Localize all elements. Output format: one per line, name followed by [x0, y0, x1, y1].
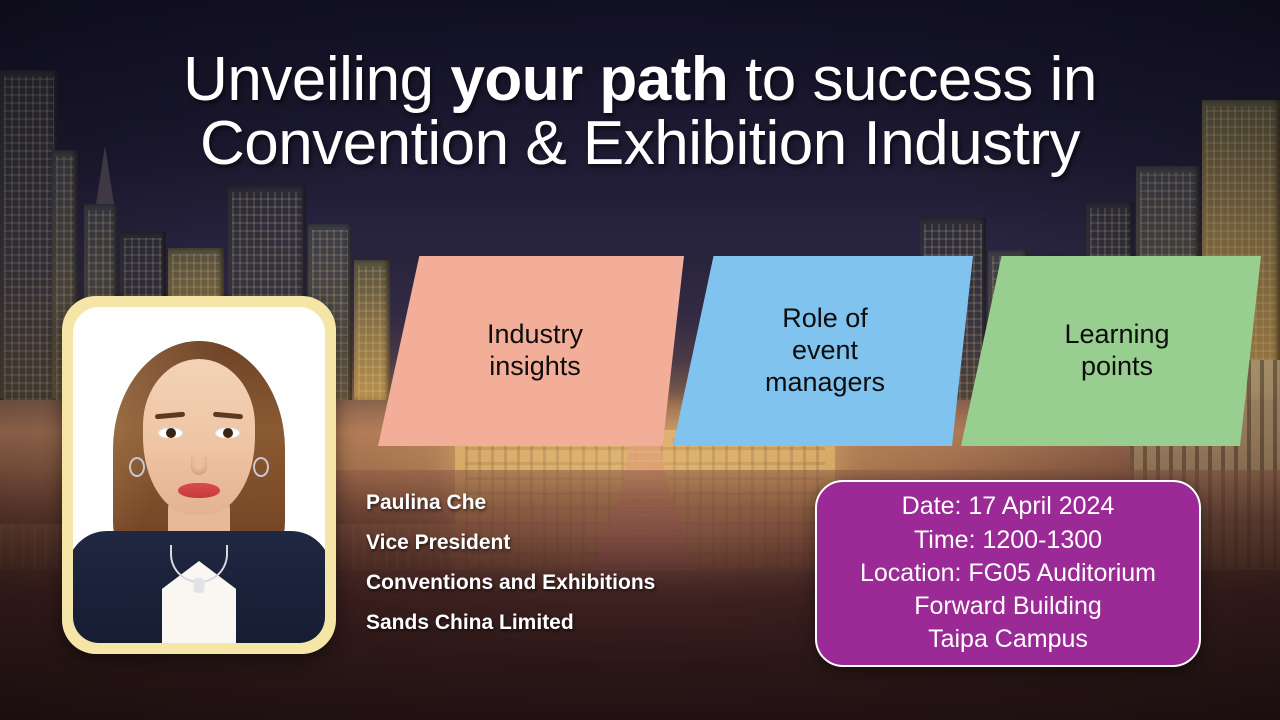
speaker-name: Paulina Che	[366, 492, 655, 513]
topic-chevron-label: Role ofeventmanagers	[755, 303, 895, 399]
event-campus: Taipa Campus	[928, 623, 1088, 656]
topic-chevron-row: Industryinsights Role ofeventmanagers Le…	[378, 256, 1208, 446]
speaker-department: Conventions and Exhibitions	[366, 572, 655, 593]
speaker-photo-frame	[62, 296, 336, 654]
event-building: Forward Building	[914, 590, 1102, 623]
title-line1-pre: Unveiling	[183, 45, 450, 114]
event-location: Location: FG05 Auditorium	[860, 557, 1156, 590]
page-title: Unveiling your path to success in Conven…	[0, 48, 1280, 176]
event-details-box: Date: 17 April 2024 Time: 1200-1300 Loca…	[815, 480, 1201, 667]
title-line1-post: to success in	[728, 45, 1097, 114]
portrait-eye-right	[215, 427, 240, 438]
portrait-nose	[191, 457, 207, 475]
portrait-earring-right	[253, 457, 269, 477]
topic-chevron-label: Learningpoints	[1054, 319, 1179, 383]
speaker-company: Sands China Limited	[366, 612, 655, 633]
title-line2: Convention & Exhibition Industry	[200, 109, 1080, 178]
portrait-lips	[178, 483, 220, 498]
topic-chevron-label: Industryinsights	[477, 319, 593, 383]
portrait-pendant	[194, 578, 205, 593]
topic-chevron-industry-insights: Industryinsights	[378, 256, 684, 446]
event-date: Date: 17 April 2024	[902, 490, 1115, 523]
event-time: Time: 1200-1300	[914, 524, 1102, 557]
speaker-details: Paulina Che Vice President Conventions a…	[366, 492, 655, 633]
portrait-eye-left	[158, 427, 183, 438]
event-poster: Unveiling your path to success in Conven…	[0, 0, 1280, 720]
speaker-title: Vice President	[366, 532, 655, 553]
portrait-earring-left	[129, 457, 145, 477]
topic-chevron-role-of-event-managers: Role ofeventmanagers	[673, 256, 973, 446]
title-line1-bold: your path	[450, 45, 728, 114]
topic-chevron-learning-points: Learningpoints	[961, 256, 1261, 446]
speaker-portrait	[73, 307, 325, 643]
